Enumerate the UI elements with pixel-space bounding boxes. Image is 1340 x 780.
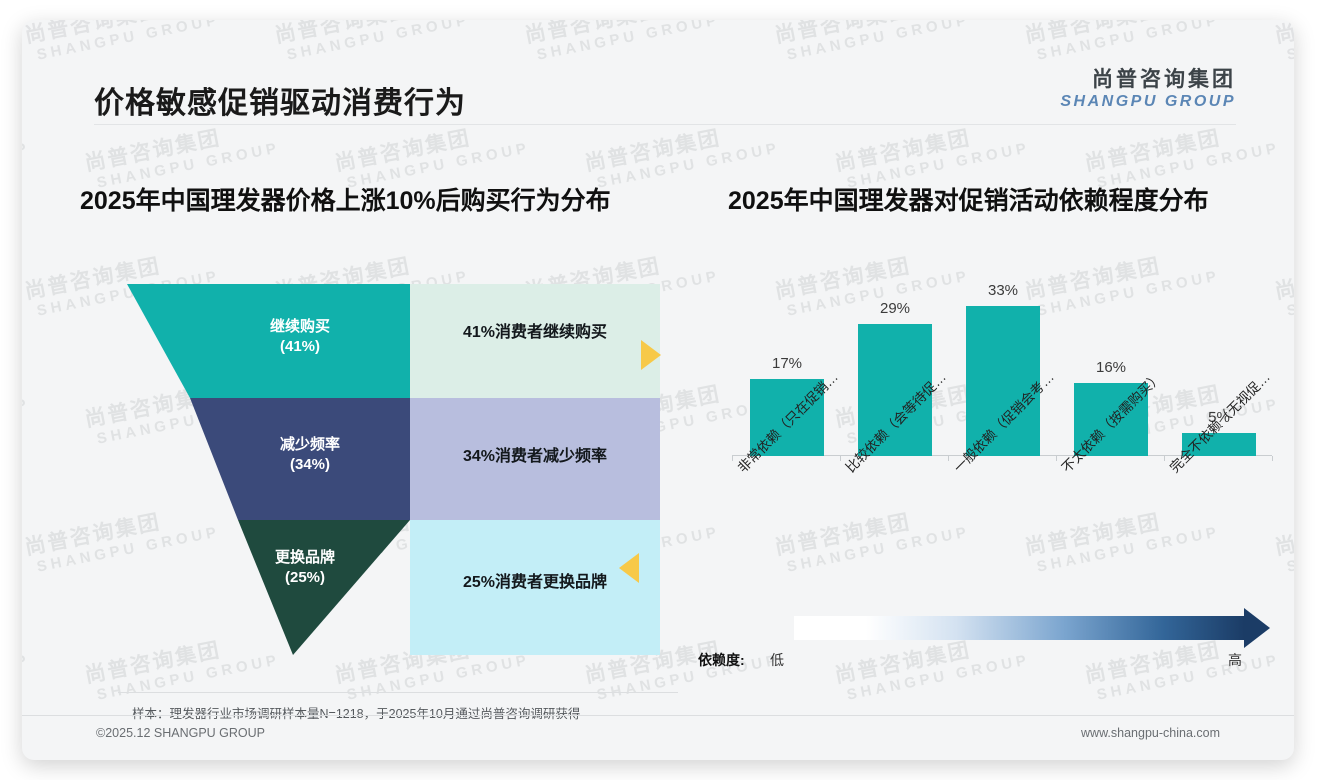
brand-logo: 尚普咨询集团 SHANGPU GROUP — [1060, 68, 1236, 111]
header-divider — [94, 124, 1236, 125]
watermark-tile: 尚普咨询集团SHANGPU GROUP — [1022, 751, 1221, 760]
bar-value-label: 33% — [988, 282, 1018, 299]
bar-value-label: 16% — [1096, 359, 1126, 376]
watermark-tile: 尚普咨询集团SHANGPU GROUP — [1022, 495, 1221, 577]
footer-divider — [22, 715, 1294, 716]
funnel-stage-value-0: (41%) — [235, 337, 365, 357]
page-title: 价格敏感促销驱动消费行为 — [94, 78, 466, 122]
sample-note: 样本：理发器行业市场调研样本量N=1218，于2025年10月通过尚普咨询调研获… — [132, 703, 580, 722]
right-chart-title: 2025年中国理发器对促销活动依赖程度分布 — [728, 181, 1209, 217]
bar-value-label: 17% — [772, 355, 802, 372]
watermark-tile: 尚普咨询集团SHANGPU GROUP — [1272, 495, 1294, 577]
bar-value-label: 29% — [880, 300, 910, 317]
funnel-annotation-0: 41%消费者继续购买 — [415, 318, 655, 342]
watermark-tile: 尚普咨询集团SHANGPU GROUP — [22, 751, 221, 760]
funnel-stage-name-2: 更换品牌 — [240, 548, 370, 568]
footer-website[interactable]: www.shangpu-china.com — [1081, 726, 1220, 740]
gradient-arrow-icon — [1244, 608, 1270, 648]
logo-text-en: SHANGPU GROUP — [1060, 92, 1236, 111]
funnel-label-0: 继续购买 (41%) — [235, 317, 365, 358]
footer-copyright: ©2025.12 SHANGPU GROUP — [96, 726, 265, 740]
gradient-bar — [794, 616, 1244, 640]
dependency-legend: 依赖度: 低 高 — [698, 616, 1282, 678]
note-divider — [118, 692, 678, 693]
funnel-label-1: 减少频率 (34%) — [245, 435, 375, 476]
legend-low-label: 低 — [770, 650, 784, 670]
logo-text-cn: 尚普咨询集团 — [1060, 68, 1236, 92]
x-axis-tick — [1272, 456, 1273, 461]
watermark-tile: 尚普咨询集团SHANGPU GROUP — [772, 751, 971, 760]
watermark-tile: 尚普咨询集团SHANGPU GROUP — [22, 623, 31, 705]
funnel-chart: 继续购买 (41%) 减少频率 (34%) 更换品牌 (25%) 41%消费者继… — [80, 260, 660, 670]
legend-key-label: 依赖度: — [698, 650, 745, 670]
funnel-label-2: 更换品牌 (25%) — [240, 548, 370, 589]
triangle-right-icon — [641, 340, 661, 370]
watermark-tile: 尚普咨询集团SHANGPU GROUP — [272, 751, 471, 760]
funnel-stage-name-0: 继续购买 — [235, 317, 365, 337]
funnel-stage-value-1: (34%) — [245, 455, 375, 475]
funnel-annotation-1: 34%消费者减少频率 — [415, 442, 655, 466]
watermark-tile: 尚普咨询集团SHANGPU GROUP — [1272, 751, 1294, 760]
watermark-tile: 尚普咨询集团SHANGPU GROUP — [522, 751, 721, 760]
watermark-tile: 尚普咨询集团SHANGPU GROUP — [22, 367, 31, 449]
legend-high-label: 高 — [1228, 650, 1242, 670]
slide-header: 价格敏感促销驱动消费行为 尚普咨询集团 SHANGPU GROUP — [22, 20, 1294, 124]
slide-card: 尚普咨询集团SHANGPU GROUP尚普咨询集团SHANGPU GROUP尚普… — [22, 20, 1294, 760]
left-chart-title: 2025年中国理发器价格上涨10%后购买行为分布 — [80, 181, 611, 217]
watermark-tile: 尚普咨询集团SHANGPU GROUP — [772, 495, 971, 577]
triangle-left-icon — [619, 553, 639, 583]
funnel-stage-value-2: (25%) — [240, 568, 370, 588]
funnel-stage-name-1: 减少频率 — [245, 435, 375, 455]
